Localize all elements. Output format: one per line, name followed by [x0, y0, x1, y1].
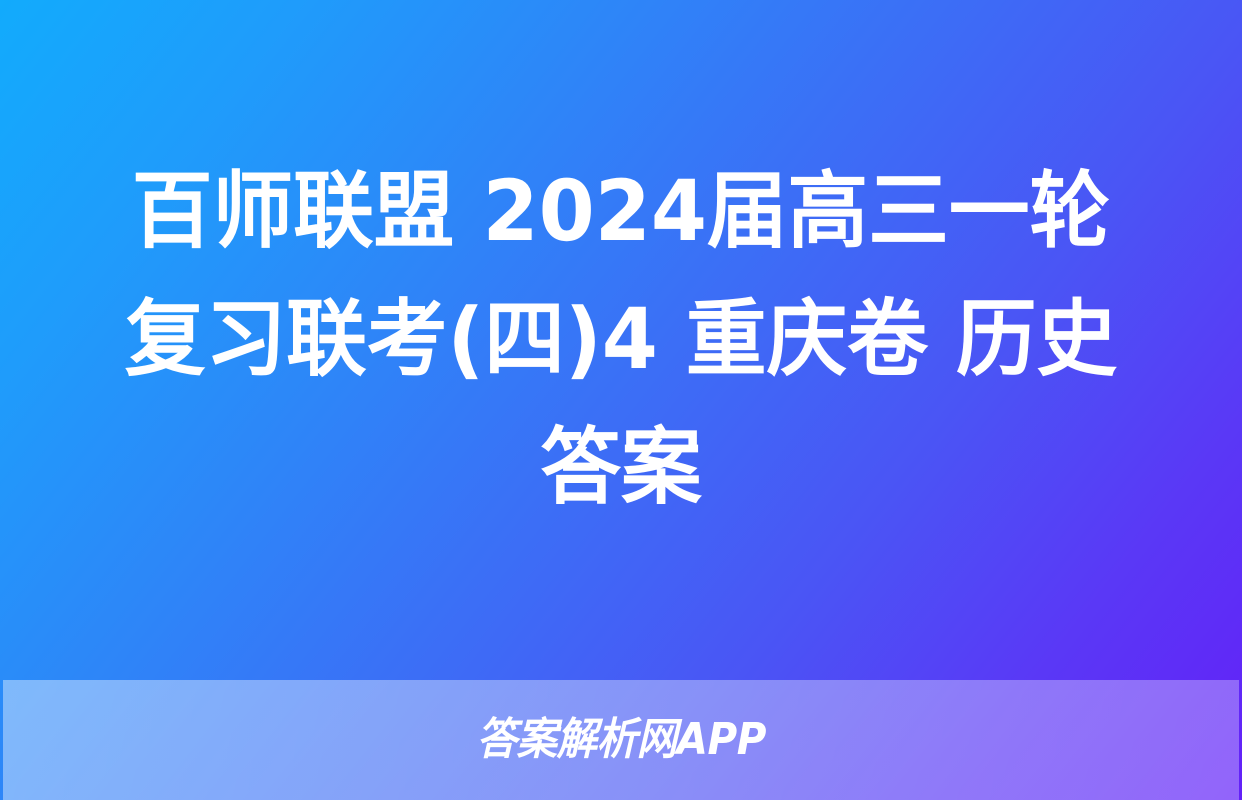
watermark-text: 答案解析网APP: [476, 718, 765, 762]
hero-title-block: 百师联盟 2024届高三一轮复习联考(四)4 重庆卷 历史答案: [0, 0, 1242, 680]
footer-watermark-band: 答案解析网APP: [3, 680, 1239, 800]
page-title: 百师联盟 2024届高三一轮复习联考(四)4 重庆卷 历史答案: [94, 148, 1148, 531]
cover-screen: 百师联盟 2024届高三一轮复习联考(四)4 重庆卷 历史答案 答案解析网APP: [0, 0, 1242, 800]
